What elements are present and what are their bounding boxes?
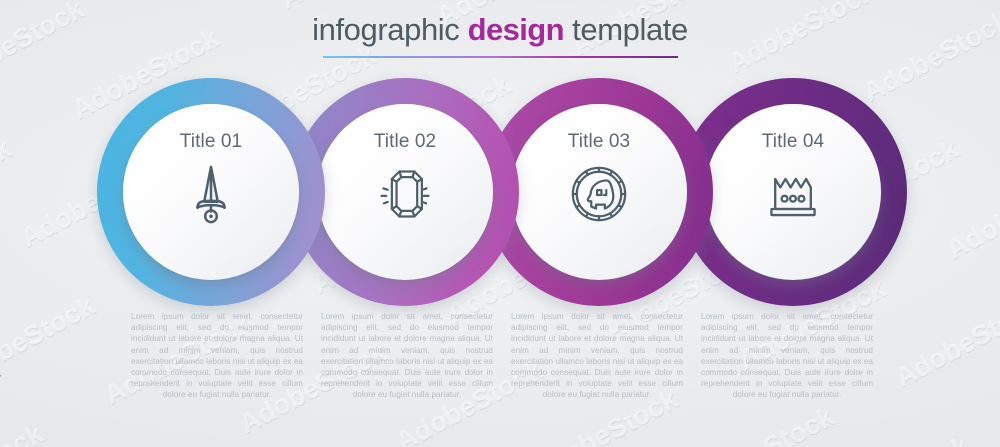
step-node-3[interactable]: Title 03 [485,78,713,306]
step-label-1: Title 01 [180,131,242,153]
stock-watermark-label: Adobe Stock | #484233262 [0,318,2,439]
description-col-1: Lorem ipsum dolor sit amet, consectetur … [131,311,321,401]
watermark-tile: AdobeStock [818,430,975,447]
crown-icon [760,161,826,227]
page-title-emphasis: design [468,12,564,47]
gemstone-icon [372,161,438,227]
page-title: infographic design template [0,14,1000,47]
dagger-icon [178,161,244,227]
watermark-tile: AdobeStock [0,419,49,447]
step-disc-4[interactable]: Title 04 [705,104,881,280]
page-title-part1: infographic [312,12,459,47]
description-text-2: Lorem ipsum dolor sit amet, consectetur … [321,311,493,401]
description-col-3: Lorem ipsum dolor sit amet, consectetur … [511,311,701,401]
description-text-1: Lorem ipsum dolor sit amet, consectetur … [131,311,303,401]
step-node-2[interactable]: Title 02 [291,78,519,306]
step-node-1[interactable]: Title 01 [97,78,325,306]
step-disc-1[interactable]: Title 01 [123,104,299,280]
coin-head-icon [566,161,632,227]
description-row: Lorem ipsum dolor sit amet, consectetur … [131,311,891,401]
title-underline-rule [323,56,678,58]
description-col-2: Lorem ipsum dolor sit amet, consectetur … [321,311,511,401]
page-title-part2: template [572,12,688,47]
description-text-4: Lorem ipsum dolor sit amet, consectetur … [701,311,873,401]
step-node-4[interactable]: Title 04 [679,78,907,306]
step-disc-2[interactable]: Title 02 [317,104,493,280]
watermark-tile: AdobeStock [942,163,1000,266]
watermark-tile: AdobeStock [0,133,17,236]
step-label-3: Title 03 [568,131,630,153]
description-text-3: Lorem ipsum dolor sit amet, consectetur … [511,311,683,401]
step-ring-row: Title 01 Title 02 [97,78,907,306]
canvas: AdobeStockAdobeStockAdobeStockAdobeStock… [0,0,1000,447]
step-label-4: Title 04 [762,131,824,153]
description-col-4: Lorem ipsum dolor sit amet, consectetur … [701,311,891,401]
watermark-tile: AdobeStock [0,291,100,394]
header: infographic design template [0,14,1000,58]
step-label-2: Title 02 [374,131,436,153]
watermark-tile: AdobeStock [891,291,1000,394]
step-disc-3[interactable]: Title 03 [511,104,687,280]
watermark-tile: AdobeStock [683,401,840,447]
